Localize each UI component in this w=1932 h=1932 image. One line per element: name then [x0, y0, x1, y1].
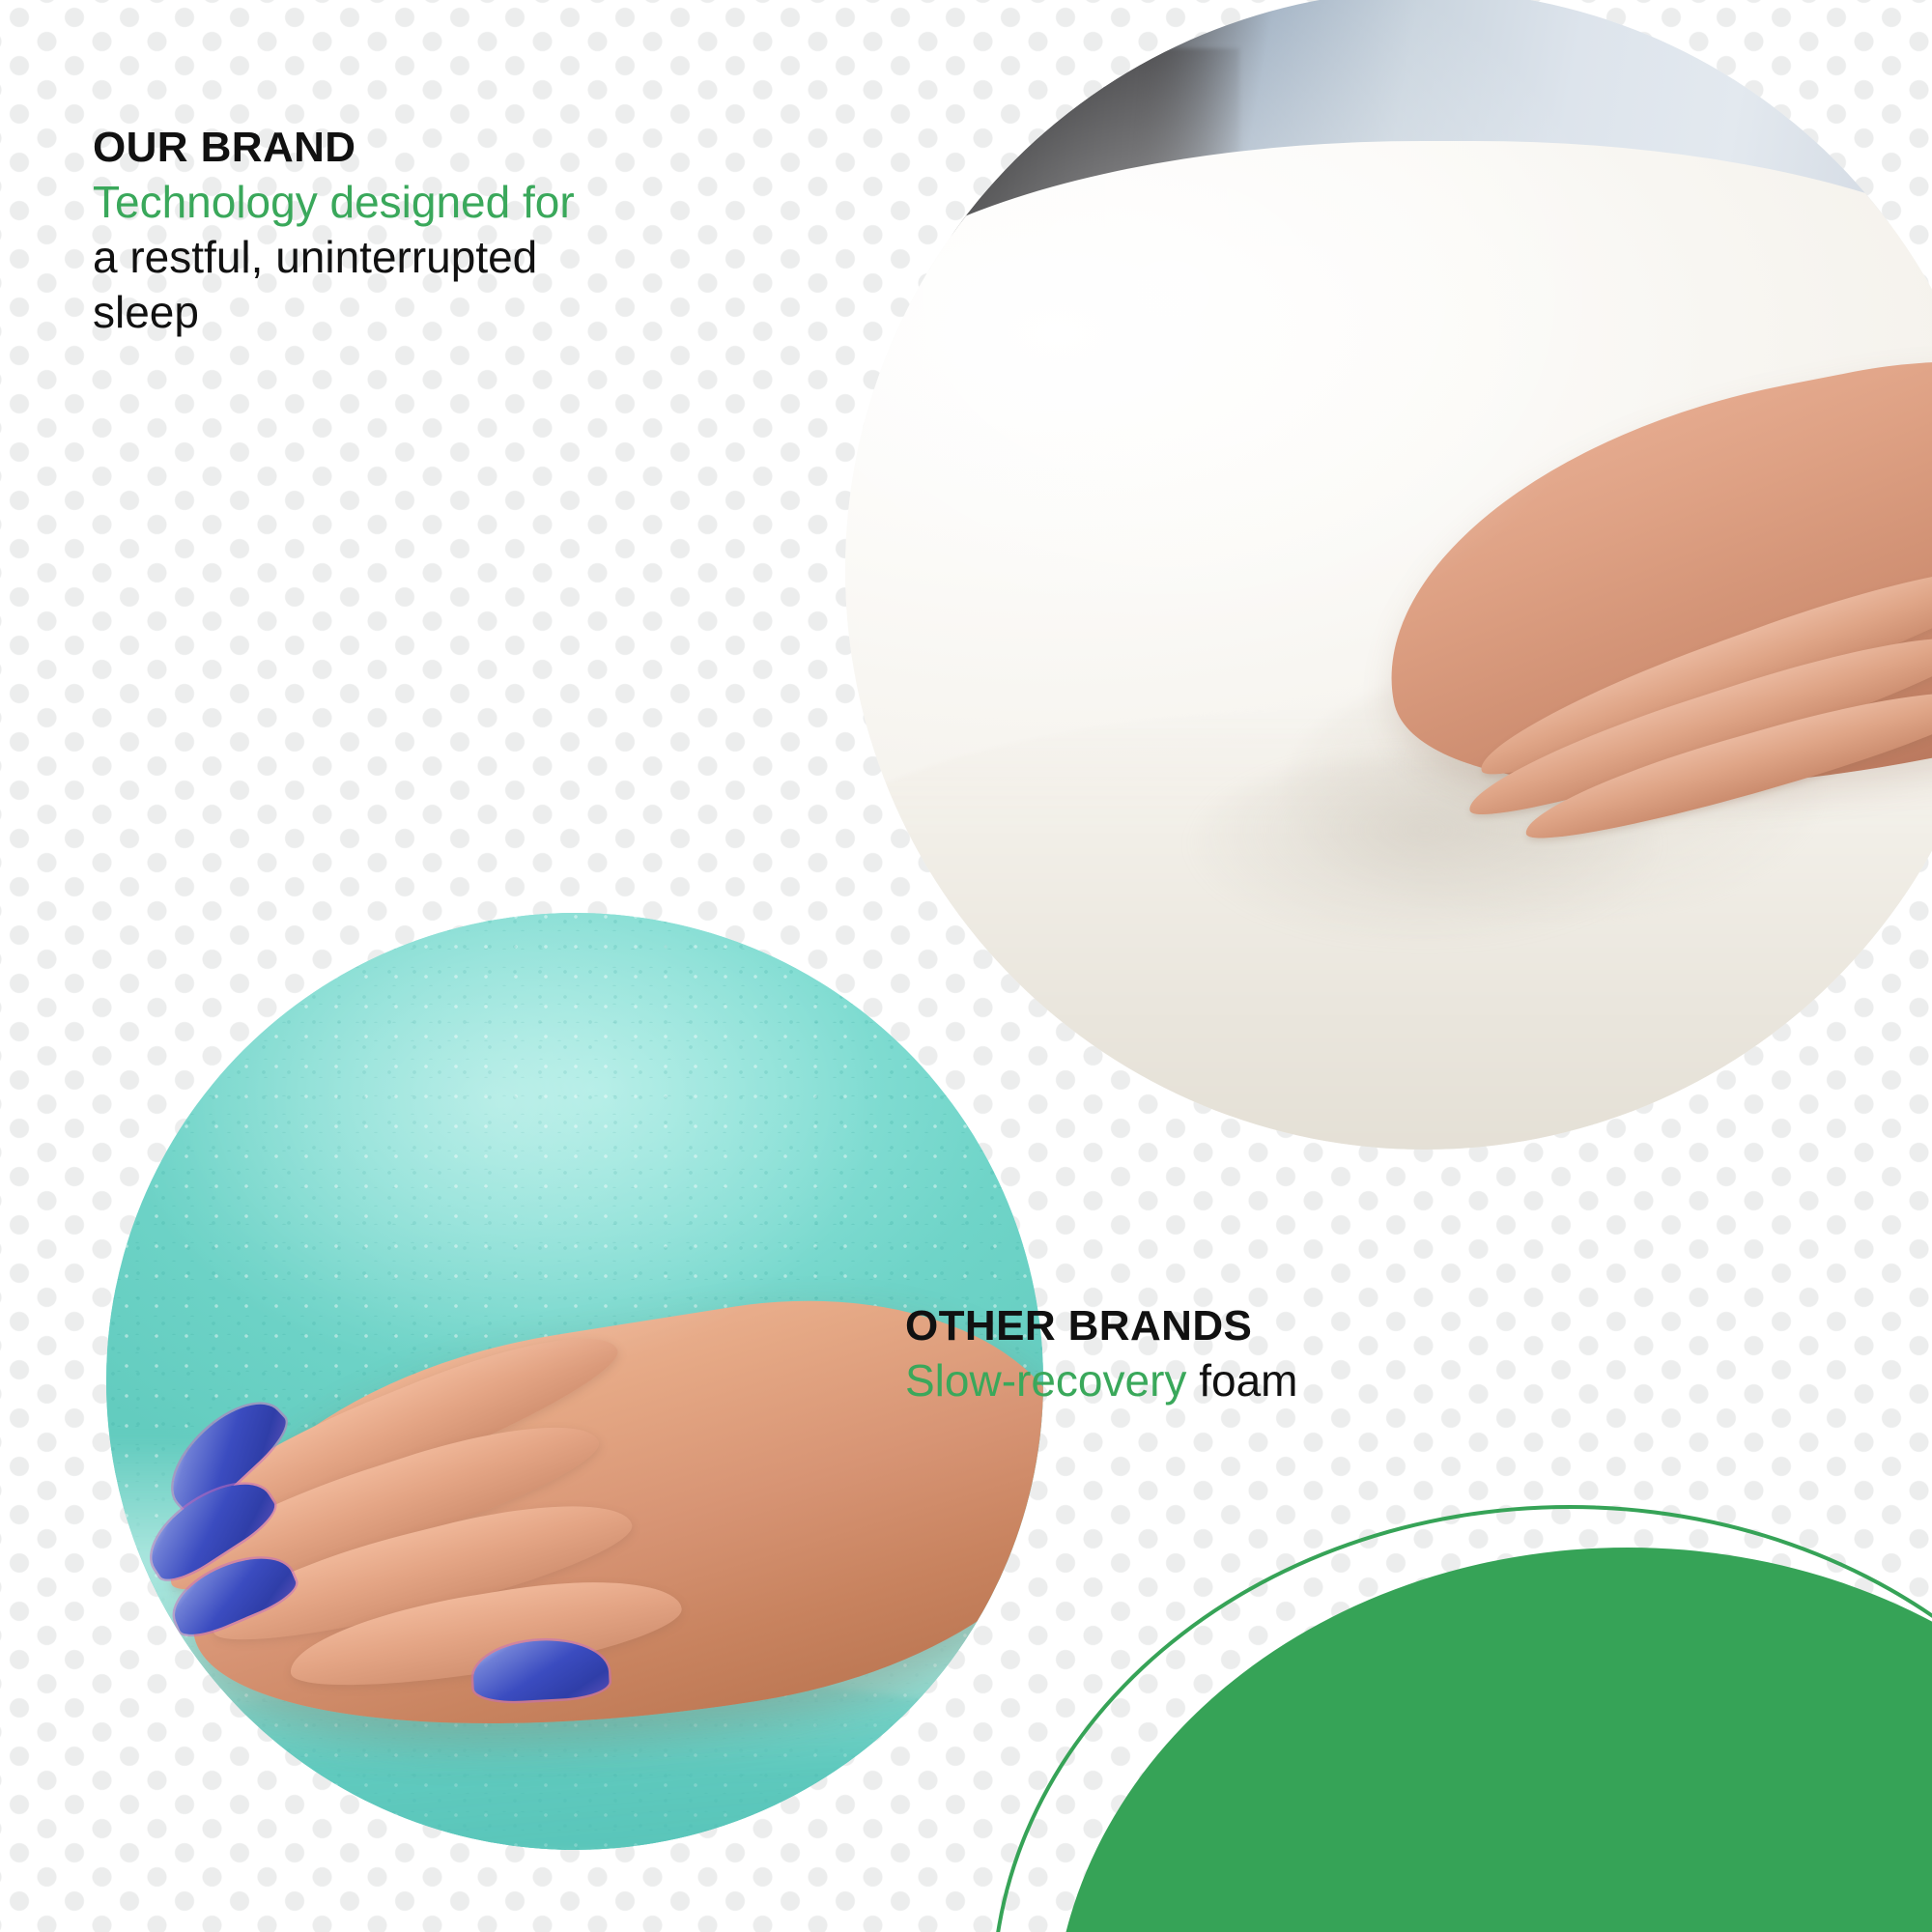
teal-foam-scene: [106, 913, 1043, 1850]
poster-canvas: OUR BRAND Technology designed for a rest…: [0, 0, 1932, 1932]
other-brands-headline-green: Slow-recovery: [905, 1355, 1186, 1406]
other-brands-foam-photo: [106, 913, 1043, 1850]
other-brands-text-block: OTHER BRANDS Slow-recovery foam: [905, 1302, 1504, 1408]
our-brand-headline: Technology designed for a restful, unint…: [93, 175, 711, 340]
our-brand-headline-line2: sleep: [93, 287, 199, 337]
other-brands-eyebrow: OTHER BRANDS: [905, 1302, 1504, 1350]
our-brand-text-block: OUR BRAND Technology designed for a rest…: [93, 124, 711, 340]
our-brand-eyebrow: OUR BRAND: [93, 124, 711, 171]
other-brands-headline-dark: foam: [1186, 1355, 1297, 1406]
other-brands-headline: Slow-recovery foam: [905, 1353, 1504, 1408]
our-brand-headline-line1: a restful, uninterrupted: [93, 232, 537, 282]
our-brand-headline-green: Technology designed for: [93, 177, 575, 227]
